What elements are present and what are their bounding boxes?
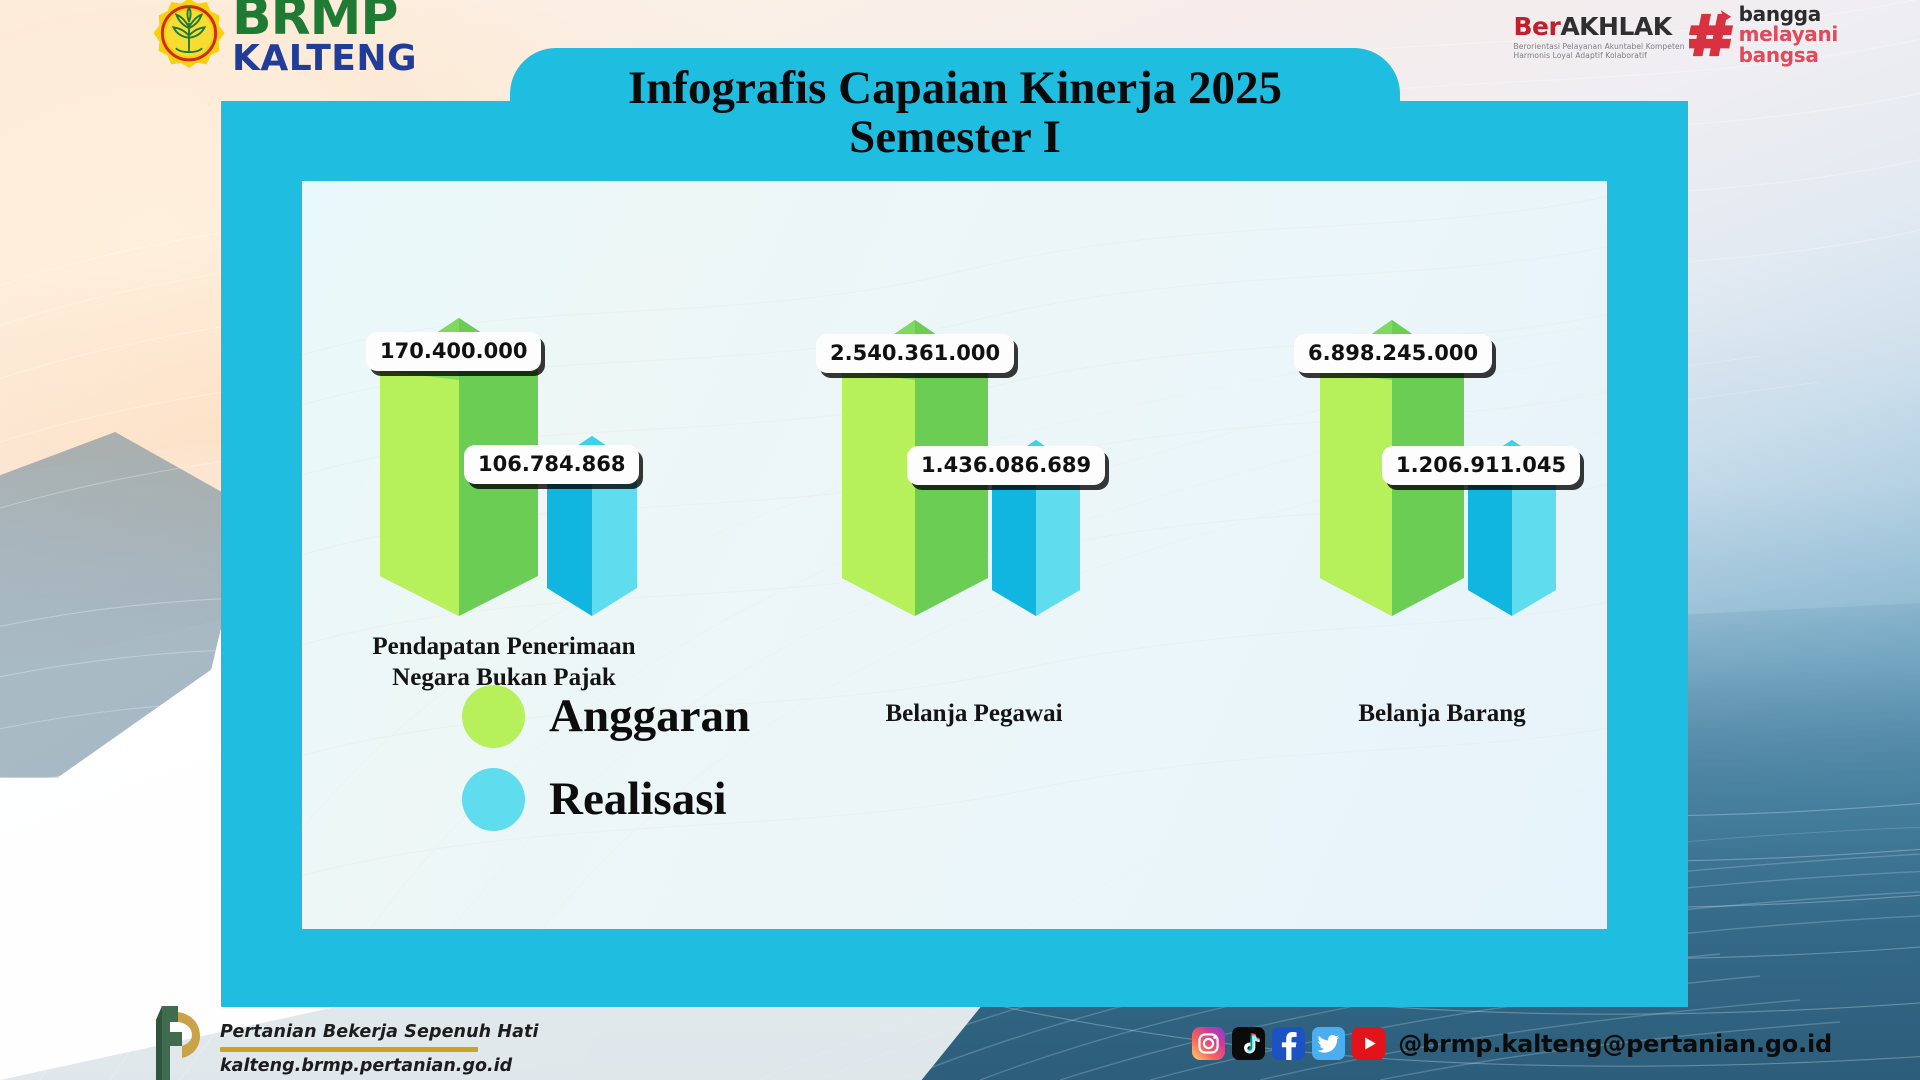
berakhlak-values-subtitle: Berorientasi Pelayanan Akuntabel Kompete… <box>1513 42 1684 61</box>
category-label-pendapatan: Pendapatan Penerimaan Negara Bukan Pajak <box>302 632 734 693</box>
berakhlak-wordmark: BerAKHLAK Berorientasi Pelayanan Akuntab… <box>1513 4 1684 61</box>
brmp-logo: BRMP KALTENG <box>152 0 417 75</box>
value-label-realisasi-2: 1.436.086.689 <box>907 446 1105 485</box>
bar-group-belanja-pegawai: 2.540.361.000 1.436.086.689 Belanja Pega… <box>764 181 1204 929</box>
hashtag-icon <box>1689 10 1735 60</box>
value-label-anggaran-1: 170.400.000 <box>366 332 541 371</box>
berakhlak-title: BerAKHLAK <box>1513 14 1684 39</box>
tagline-line-2: melayani <box>1739 24 1838 44</box>
legend-label-realisasi: Realisasi <box>549 776 727 823</box>
chart-panel: 170.400.000 106.784.868 Pendapatan Pener… <box>302 181 1607 929</box>
pertanian-leaf-logo-icon <box>148 1002 210 1080</box>
footer-divider <box>220 1047 478 1052</box>
legend-label-anggaran: Anggaran <box>549 693 750 740</box>
footer-social-links: @brmp.kalteng@pertanian.go.id <box>1192 1027 1832 1060</box>
berakhlak-prefix: Ber <box>1513 12 1560 41</box>
brmp-wordmark: BRMP KALTENG <box>232 0 417 75</box>
youtube-icon[interactable] <box>1352 1027 1385 1060</box>
footer-branding: Pertanian Bekerja Sepenuh Hati kalteng.b… <box>148 1002 539 1080</box>
tagline-line-1: bangga <box>1739 4 1838 24</box>
berakhlak-suffix: AKHLAK <box>1560 12 1671 41</box>
ministry-of-agriculture-seal-icon <box>152 0 226 71</box>
brmp-title: BRMP <box>232 0 417 42</box>
footer-tagline: Pertanian Bekerja Sepenuh Hati <box>220 1022 539 1042</box>
chart-legend: Anggaran Realisasi <box>462 685 750 851</box>
page-title: Infografis Capaian Kinerja 2025 Semester… <box>510 64 1400 162</box>
category-label-belanja-pegawai: Belanja Pegawai <box>754 699 1194 730</box>
brmp-subtitle: KALTENG <box>232 42 417 75</box>
bangga-tagline: bangga melayani bangsa <box>1739 4 1838 65</box>
twitter-icon[interactable] <box>1312 1027 1345 1060</box>
footer-text-block: Pertanian Bekerja Sepenuh Hati kalteng.b… <box>220 1022 539 1080</box>
legend-item-realisasi: Realisasi <box>462 768 750 831</box>
category-label-belanja-barang: Belanja Barang <box>1242 699 1607 730</box>
instagram-icon[interactable] <box>1192 1027 1225 1060</box>
bar-group-belanja-barang: 6.898.245.000 1.206.911.045 Belanja Bara… <box>1282 181 1607 929</box>
footer-website-url[interactable]: kalteng.brmp.pertanian.go.id <box>220 1056 539 1076</box>
infographic-frame: 170.400.000 106.784.868 Pendapatan Pener… <box>221 101 1688 1007</box>
value-label-realisasi-1: 106.784.868 <box>464 445 639 484</box>
bangga-melayani-bangsa-lockup: bangga melayani bangsa <box>1689 4 1838 65</box>
title-banner: Infografis Capaian Kinerja 2025 Semester… <box>510 48 1400 173</box>
berakhlak-logo: BerAKHLAK Berorientasi Pelayanan Akuntab… <box>1513 4 1838 65</box>
facebook-icon[interactable] <box>1272 1027 1305 1060</box>
legend-swatch-realisasi <box>462 768 525 831</box>
value-label-realisasi-3: 1.206.911.045 <box>1382 446 1580 485</box>
social-handle: @brmp.kalteng@pertanian.go.id <box>1398 1030 1832 1058</box>
tiktok-icon[interactable] <box>1232 1027 1265 1060</box>
value-label-anggaran-2: 2.540.361.000 <box>816 334 1014 373</box>
legend-item-anggaran: Anggaran <box>462 685 750 748</box>
legend-swatch-anggaran <box>462 685 525 748</box>
value-label-anggaran-3: 6.898.245.000 <box>1294 334 1492 373</box>
tagline-line-3: bangsa <box>1739 45 1838 65</box>
